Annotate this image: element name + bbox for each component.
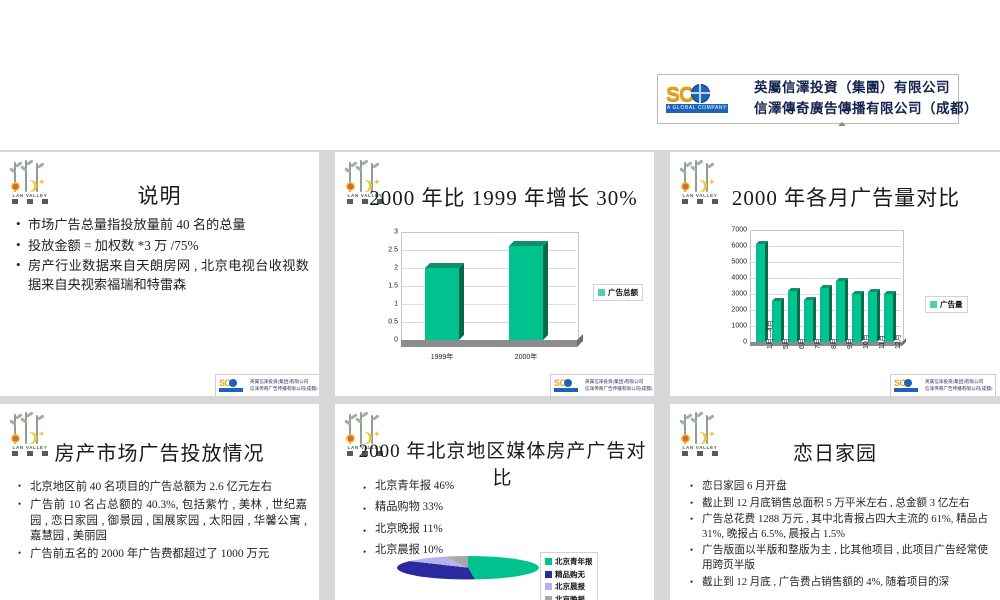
- x-tick: 1月—4月: [765, 320, 775, 349]
- list-item: 精品购物 33%: [375, 497, 642, 518]
- slide-footer-logo: SC 英属信泽投资(集团)有限公司信泽传奇广告传播有限公司(成都): [215, 374, 319, 396]
- y-tick: 6000: [731, 243, 747, 250]
- bar-month-5: [820, 288, 829, 342]
- sc-logo-icon: SC: [893, 378, 923, 394]
- bar-1999[interactable]: [425, 268, 459, 340]
- y-tick: 1: [394, 301, 398, 308]
- list-item: 恋日家园 6 月开盘: [702, 480, 988, 495]
- sc-globe-logo-icon: SC A GLOBAL COMPANY: [664, 82, 748, 116]
- x-tick: 2000年: [505, 352, 547, 362]
- legend-label: 北京晨报: [555, 581, 585, 592]
- list-item: 广告前 10 名占总额的 40.3%, 包括紫竹 , 美林 , 世纪嘉园 , 恋…: [30, 498, 307, 545]
- corporate-logo: SC A GLOBAL COMPANY 英屬信澤投資（集團）有限公司 信澤傳奇廣…: [657, 74, 959, 124]
- slide-market-ad[interactable]: ✦ LAN VALLEY 房产市场广告投放情况 北京地区前 40 名项目的广告总…: [0, 404, 319, 600]
- slide-grid: ✦ LAN VALLEY 说明 市场广告总量指投放量前 40 名的总量 投放金额…: [0, 150, 1000, 600]
- y-tick: 2.5: [388, 247, 398, 254]
- y-tick: 0: [394, 337, 398, 344]
- legend-swatch: [598, 289, 605, 296]
- x-tick: 1999年: [421, 352, 463, 362]
- y-tick: 3000: [731, 291, 747, 298]
- corp-line-1: 英屬信澤投資（集團）有限公司: [754, 78, 978, 99]
- page-title: 2000 年比 1999 年增长 30%: [335, 182, 654, 212]
- bar-month-7: [852, 294, 861, 342]
- x-tick: 8月: [829, 338, 839, 349]
- slide-explanation[interactable]: ✦ LAN VALLEY 说明 市场广告总量指投放量前 40 名的总量 投放金额…: [0, 152, 319, 396]
- footer-line-2: 信泽传奇广告传播有限公司(成都): [925, 386, 992, 393]
- presentation-handout-page: SC A GLOBAL COMPANY 英屬信澤投資（集團）有限公司 信澤傳奇廣…: [0, 0, 1000, 600]
- legend-label: 北京晚报: [555, 594, 585, 600]
- chart-legend[interactable]: 北京青年报 精品购无 北京晨报 北京晚报: [540, 552, 598, 600]
- footer-line-2: 信泽传奇广告传播有限公司(成都): [250, 386, 317, 393]
- bullet-list: 北京地区前 40 名项目的广告总额为 2.6 亿元左右 广告前 10 名占总额的…: [16, 480, 307, 565]
- y-tick: 7000: [731, 227, 747, 234]
- list-item: 广告前五名的 2000 年广告费都超过了 1000 万元: [30, 547, 307, 563]
- sc-logo-icon: SC: [218, 378, 248, 394]
- list-item: 房产行业数据来自天朗房网 , 北京电视台收视数据来自央视索福瑞和特雷森: [28, 257, 309, 294]
- dropdown-marker-icon: [838, 122, 846, 126]
- chart-monthly-volume[interactable]: 7000 6000 5000 4000 3000 2000 1000 0: [722, 230, 997, 390]
- chart-yearly-total[interactable]: 3 2.5 2 1.5 1 0.5 0 1999年: [381, 232, 641, 372]
- y-tick: 2: [394, 265, 398, 272]
- y-axis: 3 2.5 2 1.5 1 0.5 0: [401, 232, 402, 340]
- y-tick: 3: [394, 229, 398, 236]
- chart-media-share[interactable]: [397, 556, 539, 600]
- y-tick: 0: [743, 339, 747, 346]
- footer-line-1: 英属信泽投资(集团)有限公司: [585, 379, 652, 386]
- legend-label: 广告量: [940, 299, 963, 310]
- page-title: 房产市场广告投放情况: [0, 437, 319, 466]
- page-title: 恋日家园: [670, 437, 1000, 466]
- y-tick: 0.5: [388, 319, 398, 326]
- slide-footer-logo: SC 英属信泽投资(集团)有限公司信泽传奇广告传播有限公司(成都): [890, 374, 996, 396]
- x-tick: 7月: [813, 338, 823, 349]
- list-item: 北京地区前 40 名项目的广告总额为 2.6 亿元左右: [30, 480, 307, 496]
- slide-lianri-garden[interactable]: ✦ LAN VALLEY 恋日家园 恋日家园 6 月开盘 截止到 12 月底销售…: [670, 404, 1000, 600]
- chart-legend[interactable]: 广告总额: [593, 284, 643, 301]
- x-tick: 12月: [893, 334, 903, 349]
- list-item: 截止到 12 月底销售总面积 5 万平米左右 , 总金额 3 亿左右: [702, 497, 988, 512]
- footer-line-2: 信泽传奇广告传播有限公司(成都): [585, 386, 652, 393]
- x-tick: 9月: [845, 338, 855, 349]
- legend-entry[interactable]: 北京晨报: [545, 581, 593, 592]
- legend-entry[interactable]: 北京青年报: [545, 556, 593, 567]
- bullet-list: 北京青年报 46% 精品购物 33% 北京晚报 11% 北京晨报 10%: [361, 476, 642, 561]
- list-item: 市场广告总量指投放量前 40 名的总量: [28, 216, 309, 235]
- chart-legend[interactable]: 广告量: [925, 296, 968, 313]
- list-item: 广告总花费 1288 万元 , 其中北青报占四大主流的 61%, 精品占 31%…: [702, 513, 988, 542]
- list-item: 截止到 12 月底 , 广告费占销售额的 4%, 随着项目的深: [702, 576, 988, 591]
- legend-swatch: [545, 596, 552, 600]
- list-item: 北京青年报 46%: [375, 476, 642, 497]
- legend-swatch: [545, 583, 552, 590]
- header-band: SC A GLOBAL COMPANY 英屬信澤投資（集團）有限公司 信澤傳奇廣…: [0, 0, 1000, 150]
- bar-month-4: [804, 300, 813, 342]
- corporate-logo-text: 英屬信澤投資（集團）有限公司 信澤傳奇廣告傳播有限公司（成都）: [754, 78, 978, 120]
- sc-logo-icon: SC: [553, 378, 583, 394]
- footer-line-1: 英属信泽投资(集团)有限公司: [925, 379, 992, 386]
- y-tick: 1000: [731, 323, 747, 330]
- pie-slices[interactable]: [397, 556, 539, 580]
- page-title: 2000 年各月广告量对比: [670, 182, 1000, 212]
- slide-footer-logo: SC 英属信泽投资(集团)有限公司信泽传奇广告传播有限公司(成都): [550, 374, 654, 396]
- bar-month-1: [756, 244, 765, 342]
- legend-entry[interactable]: 精品购无: [545, 569, 593, 580]
- legend-swatch: [930, 301, 937, 308]
- list-item: 北京晚报 11%: [375, 519, 642, 540]
- bar-2000[interactable]: [509, 246, 543, 340]
- x-tick: 6月: [797, 338, 807, 349]
- y-tick: 1.5: [388, 283, 398, 290]
- slide-media-compare[interactable]: ✦ LAN VALLEY 2000 年北京地区媒体房产广告对比 北京青年报 46…: [335, 404, 654, 600]
- x-tick: 10月: [861, 334, 871, 349]
- legend-swatch: [545, 558, 552, 565]
- slide-monthly-2000[interactable]: ✦ LAN VALLEY 2000 年各月广告量对比 7000 6000 500…: [670, 152, 1000, 396]
- legend-entry[interactable]: 北京晚报: [545, 594, 593, 600]
- bar-month-3: [788, 291, 797, 342]
- legend-label: 精品购无: [555, 569, 585, 580]
- x-tick: 5月: [781, 338, 791, 349]
- x-tick: 11月: [877, 335, 887, 349]
- page-title: 说明: [0, 180, 319, 210]
- list-item: 投放金额 = 加权数 *3 万 /75%: [28, 237, 309, 256]
- legend-swatch: [545, 571, 552, 578]
- legend-label: 北京青年报: [555, 556, 593, 567]
- legend-label: 广告总额: [608, 287, 638, 298]
- y-tick: 5000: [731, 259, 747, 266]
- footer-line-1: 英属信泽投资(集团)有限公司: [250, 379, 317, 386]
- bullet-list: 市场广告总量指投放量前 40 名的总量 投放金额 = 加权数 *3 万 /75%…: [14, 216, 309, 297]
- y-tick: 4000: [731, 275, 747, 282]
- sc-tagline: A GLOBAL COMPANY: [666, 104, 728, 113]
- corp-line-2: 信澤傳奇廣告傳播有限公司（成都）: [754, 99, 978, 120]
- y-tick: 2000: [731, 307, 747, 314]
- list-item: 广告版面以半版和整版为主 , 比其他项目 , 此项目广告经常使用跨页半版: [702, 544, 988, 573]
- bullet-list: 恋日家园 6 月开盘 截止到 12 月底销售总面积 5 万平米左右 , 总金额 …: [688, 480, 988, 592]
- bar-month-6: [836, 281, 845, 342]
- y-axis: 7000 6000 5000 4000 3000 2000 1000 0: [750, 230, 751, 342]
- slide-growth-2000[interactable]: ✦ LAN VALLEY 2000 年比 1999 年增长 30% 3 2.5 …: [335, 152, 654, 396]
- globe-icon: [691, 84, 710, 103]
